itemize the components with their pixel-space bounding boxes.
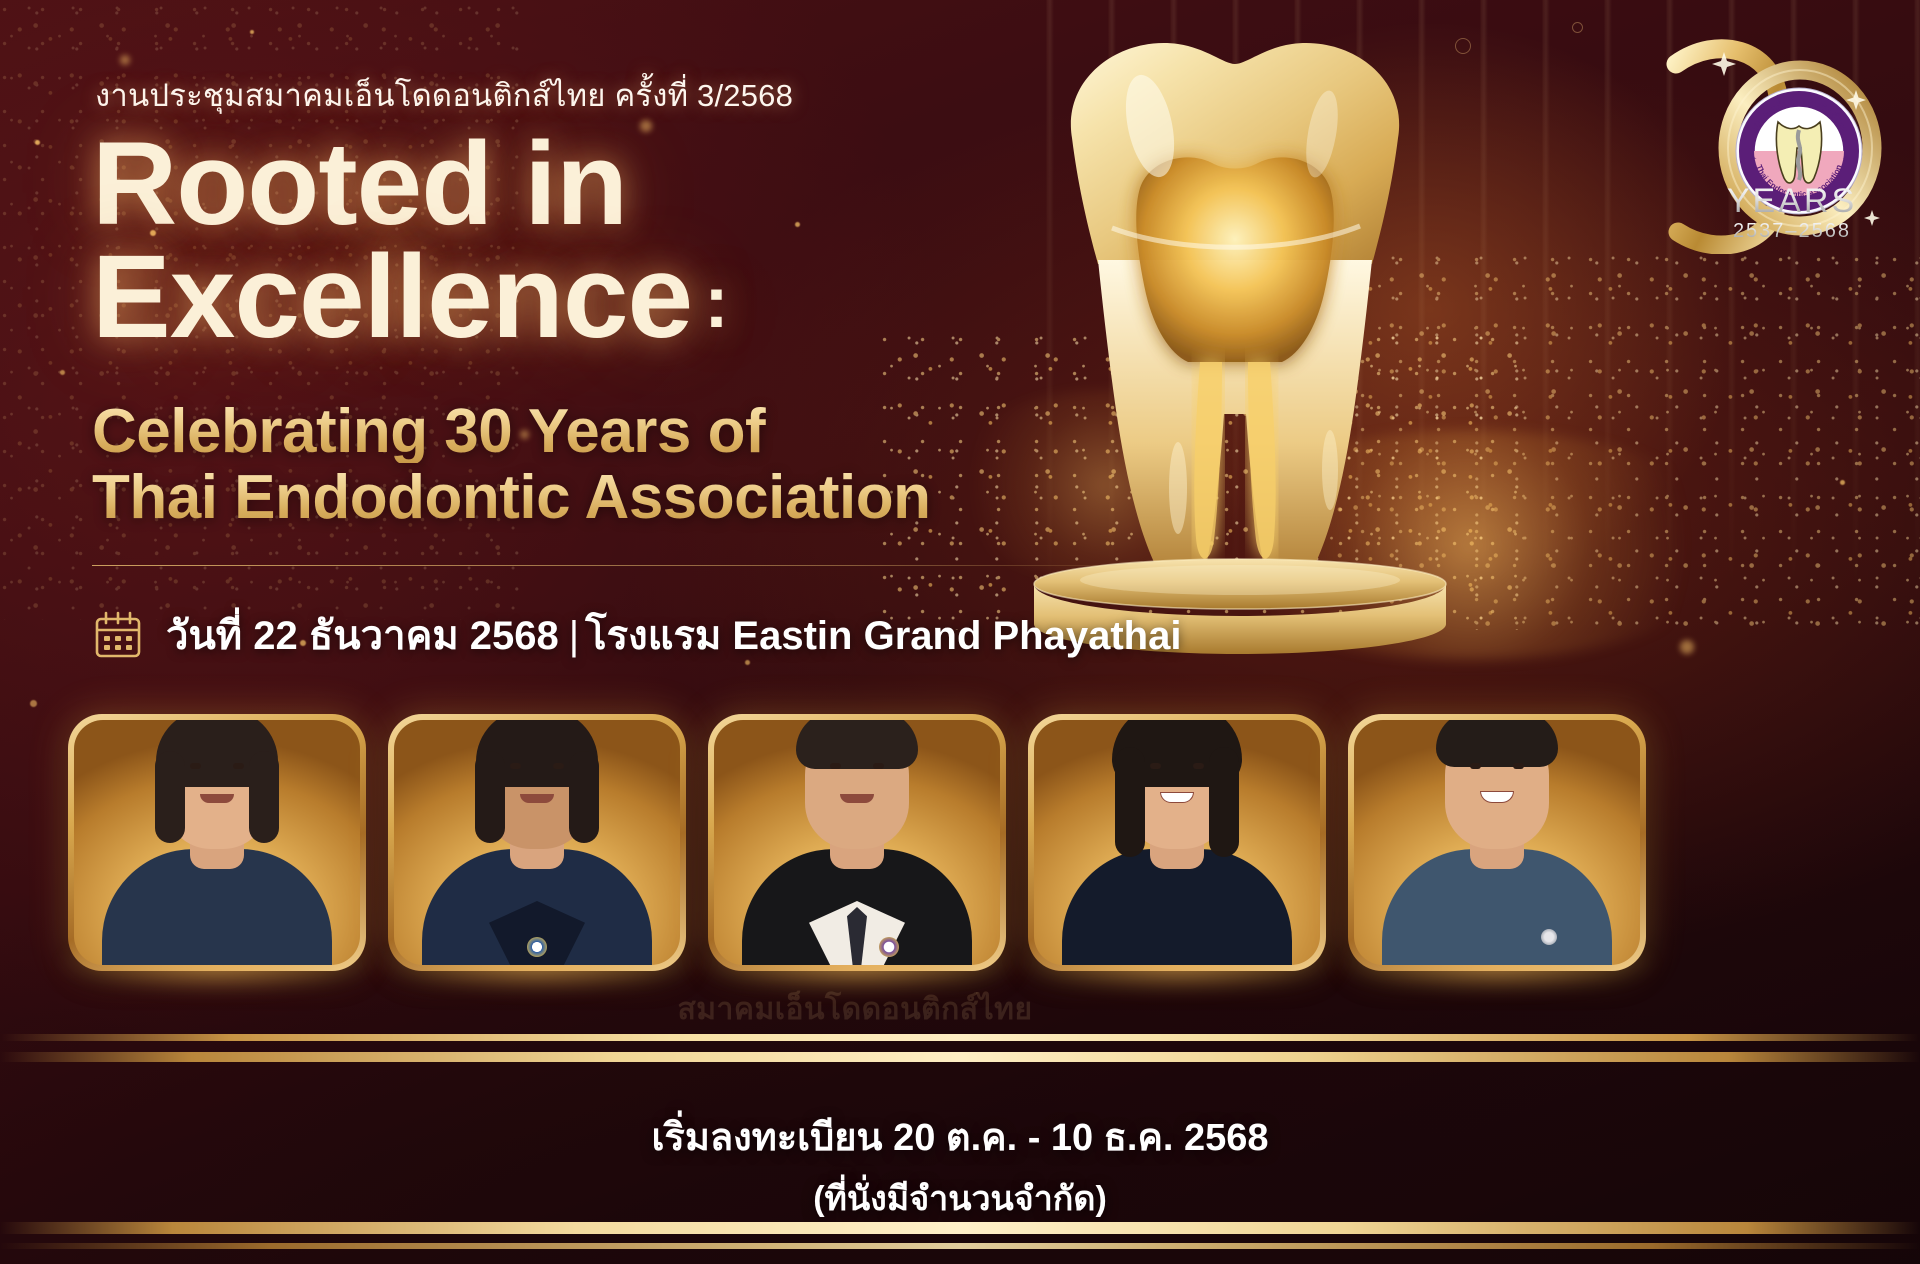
speaker-card[interactable] xyxy=(388,714,686,971)
speaker-portrait xyxy=(1034,720,1320,965)
portrait-eye xyxy=(1150,763,1161,769)
portrait-eye xyxy=(1513,763,1524,769)
gold-bar-footer xyxy=(0,1243,1920,1249)
calendar-icon xyxy=(92,609,144,661)
subtitle-line-1: Celebrating 30 Years of xyxy=(92,400,1092,463)
speaker-portrait xyxy=(714,720,1000,965)
portrait-mouth xyxy=(200,794,234,803)
portrait-lapel-pin xyxy=(879,937,899,957)
speaker-card[interactable] xyxy=(68,714,366,971)
event-venue: โรงแรม Eastin Grand Phayathai xyxy=(585,614,1181,658)
portrait-mouth xyxy=(840,794,874,803)
subtitle-line-2: Thai Endodontic Association xyxy=(92,466,1092,529)
speaker-portrait xyxy=(1354,720,1640,965)
portrait-eye xyxy=(830,763,841,769)
registration-block: เริ่มลงทะเบียน 20 ต.ค. - 10 ธ.ค. 2568 (ท… xyxy=(0,1106,1920,1225)
page-title: Rooted in Excellence: xyxy=(92,128,1092,355)
watermark-text: สมาคมเอ็นโดดอนติกส์ไทย xyxy=(330,986,1380,1033)
portrait-hair-side xyxy=(475,751,505,843)
title-line-2: Excellence xyxy=(92,231,692,363)
portrait-hair xyxy=(1436,720,1558,767)
event-poster: สมาคมเอ็นโดดอนติกส์ไทย Thai Endodontic A… xyxy=(0,0,1920,1264)
portrait-lapel-pin xyxy=(527,937,547,957)
portrait-hair-side xyxy=(155,751,185,843)
portrait-eye xyxy=(233,763,244,769)
portrait-eye xyxy=(190,763,201,769)
date-venue-separator: | xyxy=(569,614,579,658)
speaker-card[interactable] xyxy=(708,714,1006,971)
portrait-hair xyxy=(796,720,918,769)
divider-rule xyxy=(92,565,1172,566)
portrait-eye xyxy=(873,763,884,769)
portrait-hair-side xyxy=(569,751,599,843)
title-colon: : xyxy=(704,260,728,343)
speaker-card[interactable] xyxy=(1028,714,1326,971)
speaker-portrait xyxy=(74,720,360,965)
portrait-hair-side xyxy=(1115,747,1145,857)
portrait-mouth xyxy=(520,794,554,803)
gold-bar-bottom xyxy=(0,1222,1920,1234)
event-kicker: งานประชุมสมาคมเอ็นโดดอนติกส์ไทย ครั้งที่… xyxy=(95,70,793,120)
speaker-portrait xyxy=(394,720,680,965)
registration-note: (ที่นั่งมีจำนวนจำกัด) xyxy=(0,1171,1920,1225)
portrait-eye xyxy=(510,763,521,769)
portrait-hair-side xyxy=(249,751,279,843)
date-venue-row: วันที่ 22 ธันวาคม 2568|โรงแรม Eastin Gra… xyxy=(92,603,1181,667)
event-date: วันที่ 22 ธันวาคม 2568 xyxy=(166,614,559,658)
speaker-list xyxy=(68,714,1646,971)
registration-period: เริ่มลงทะเบียน 20 ต.ค. - 10 ธ.ค. 2568 xyxy=(0,1106,1920,1167)
date-venue-text: วันที่ 22 ธันวาคม 2568|โรงแรม Eastin Gra… xyxy=(166,603,1181,667)
portrait-badge xyxy=(1541,929,1557,945)
gold-bar-second xyxy=(0,1052,1920,1062)
portrait-eye xyxy=(553,763,564,769)
portrait-hair-side xyxy=(1209,747,1239,857)
speaker-card[interactable] xyxy=(1348,714,1646,971)
portrait-eye xyxy=(1470,763,1481,769)
portrait-eye xyxy=(1193,763,1204,769)
gold-bar-top xyxy=(0,1034,1920,1041)
